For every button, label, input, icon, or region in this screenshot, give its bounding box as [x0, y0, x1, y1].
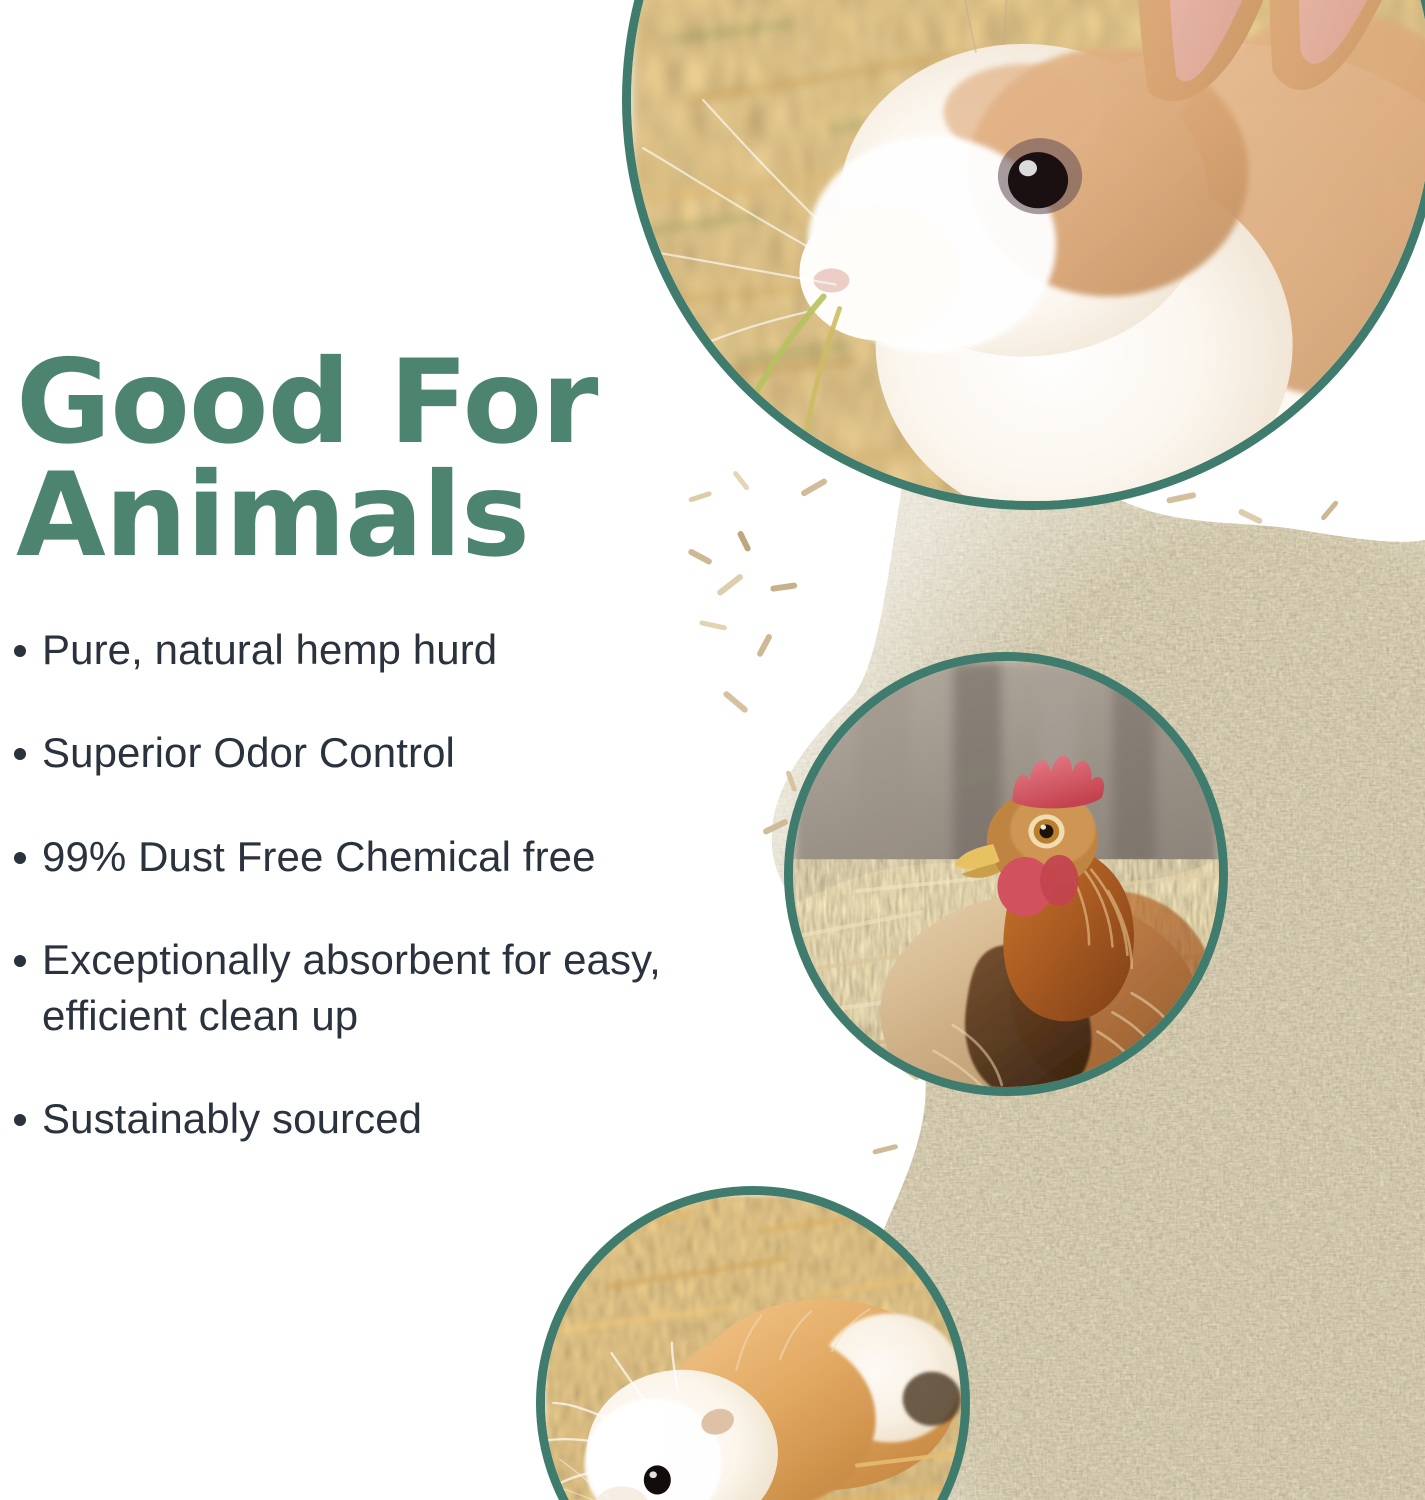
bullet-icon	[14, 955, 26, 967]
feature-text: Sustainably sourced	[42, 1095, 422, 1142]
product-feature-graphic: Good For Animals Pure, natural hemp hurd…	[0, 0, 1425, 1500]
list-item: Sustainably sourced	[8, 1091, 708, 1146]
photo-circle-chicken	[784, 652, 1228, 1096]
photo-circle-guinea-pig	[536, 1186, 970, 1500]
feature-list: Pure, natural hemp hurd Superior Odor Co…	[8, 622, 708, 1147]
feature-text: Exceptionally absorbent for easy, effici…	[42, 936, 661, 1038]
bullet-icon	[14, 645, 26, 657]
list-item: Pure, natural hemp hurd	[8, 622, 708, 677]
bullet-icon	[14, 852, 26, 864]
list-item: Exceptionally absorbent for easy, effici…	[8, 932, 708, 1043]
bullet-icon	[14, 1114, 26, 1126]
feature-text: 99% Dust Free Chemical free	[42, 833, 596, 880]
list-item: 99% Dust Free Chemical free	[8, 829, 708, 884]
page-title: Good For Animals	[16, 346, 656, 573]
list-item: Superior Odor Control	[8, 725, 708, 780]
bullet-icon	[14, 748, 26, 760]
feature-text: Pure, natural hemp hurd	[42, 626, 497, 673]
photo-circle-rabbit	[622, 0, 1425, 510]
feature-text: Superior Odor Control	[42, 729, 455, 776]
